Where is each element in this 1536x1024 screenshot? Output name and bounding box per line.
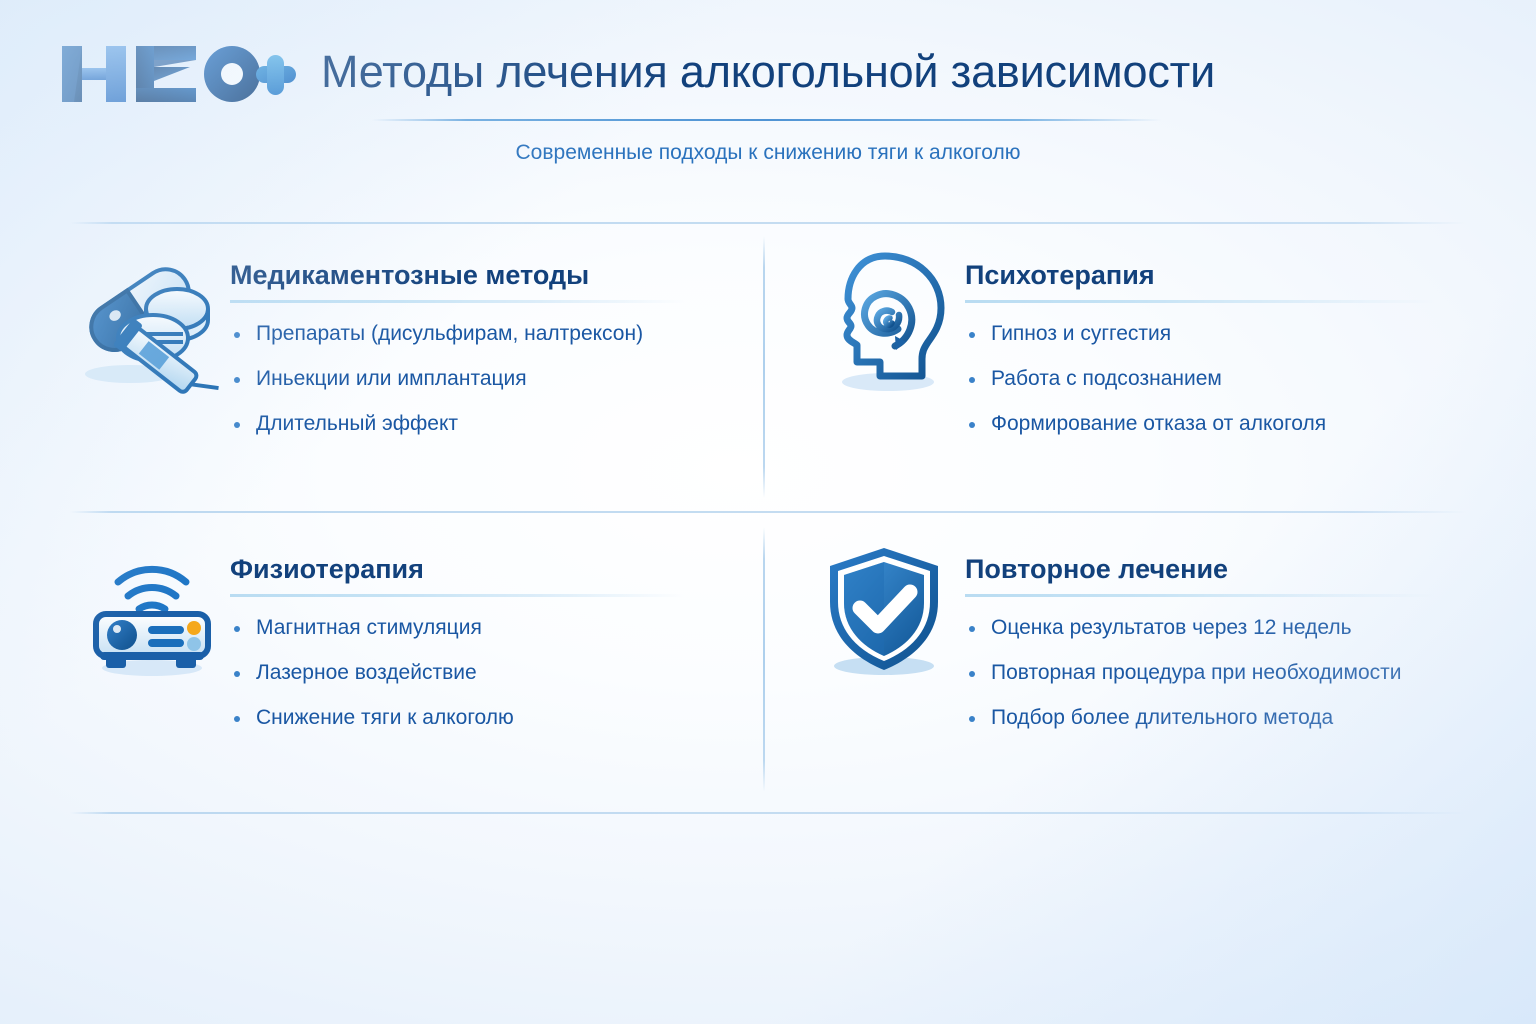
infographic-page: Методы лечения алкогольной зависимости С… xyxy=(0,0,1536,1024)
list-item: Препараты (дисульфирам, налтрексон) xyxy=(230,319,740,349)
divider-middle xyxy=(70,511,1466,513)
card-body: Психотерапия Гипноз и суггестия Работа с… xyxy=(965,246,1470,439)
divider-vertical-top xyxy=(763,236,765,498)
card-bullet-list: Препараты (дисульфирам, налтрексон) Инье… xyxy=(230,303,740,439)
card-bullet-list: Магнитная стимуляция Лазерное воздействи… xyxy=(230,597,740,733)
card-medikamentoznye-metody: Медикаментозные методы Препараты (дисуль… xyxy=(70,246,740,439)
page-title: Методы лечения алкогольной зависимости xyxy=(300,44,1236,100)
list-item: Магнитная стимуляция xyxy=(230,613,740,643)
wave-emitting-device-icon xyxy=(70,540,230,690)
list-item: Формирование отказа от алкоголя xyxy=(965,409,1470,439)
neo-plus-logo-icon xyxy=(56,38,296,110)
divider-vertical-bottom xyxy=(763,527,765,792)
card-povtornoe-lechenie: Повторное лечение Оценка результатов чер… xyxy=(805,540,1470,733)
list-item: Лазерное воздействие xyxy=(230,658,740,688)
shield-check-icon xyxy=(805,540,965,690)
card-psihoterapiya: Психотерапия Гипноз и суггестия Работа с… xyxy=(805,246,1470,439)
list-item: Подбор более длительного метода xyxy=(965,703,1470,733)
list-item: Повторная процедура при необходимости xyxy=(965,658,1470,688)
list-item: Работа с подсознанием xyxy=(965,364,1470,394)
card-bullet-list: Оценка результатов через 12 недель Повто… xyxy=(965,597,1470,733)
list-item: Оценка результатов через 12 недель xyxy=(965,613,1470,643)
card-fizioterapiya: Физиотерапия Магнитная стимуляция Лазерн… xyxy=(70,540,740,733)
list-item: Длительный эффект xyxy=(230,409,740,439)
card-title: Медикаментозные методы xyxy=(230,258,740,292)
card-title: Психотерапия xyxy=(965,258,1470,292)
list-item: Гипноз и суггестия xyxy=(965,319,1470,349)
head-spiral-hypnosis-icon xyxy=(805,246,965,406)
page-subtitle: Современные подходы к снижению тяги к ал… xyxy=(300,139,1236,167)
page-header: Методы лечения алкогольной зависимости С… xyxy=(0,0,1536,200)
card-body: Физиотерапия Магнитная стимуляция Лазерн… xyxy=(230,540,740,733)
card-title: Повторное лечение xyxy=(965,552,1470,586)
card-bullet-list: Гипноз и суггестия Работа с подсознанием… xyxy=(965,303,1470,439)
card-title: Физиотерапия xyxy=(230,552,740,586)
list-item: Иньекции или имплантация xyxy=(230,364,740,394)
title-underline xyxy=(372,119,1162,121)
neo-plus-logo xyxy=(56,38,296,110)
card-body: Медикаментозные методы Препараты (дисуль… xyxy=(230,246,740,439)
card-body: Повторное лечение Оценка результатов чер… xyxy=(965,540,1470,733)
divider-bottom xyxy=(70,812,1466,814)
pills-syringe-icon xyxy=(70,246,230,406)
divider-top xyxy=(70,222,1466,224)
list-item: Снижение тяги к алкоголю xyxy=(230,703,740,733)
